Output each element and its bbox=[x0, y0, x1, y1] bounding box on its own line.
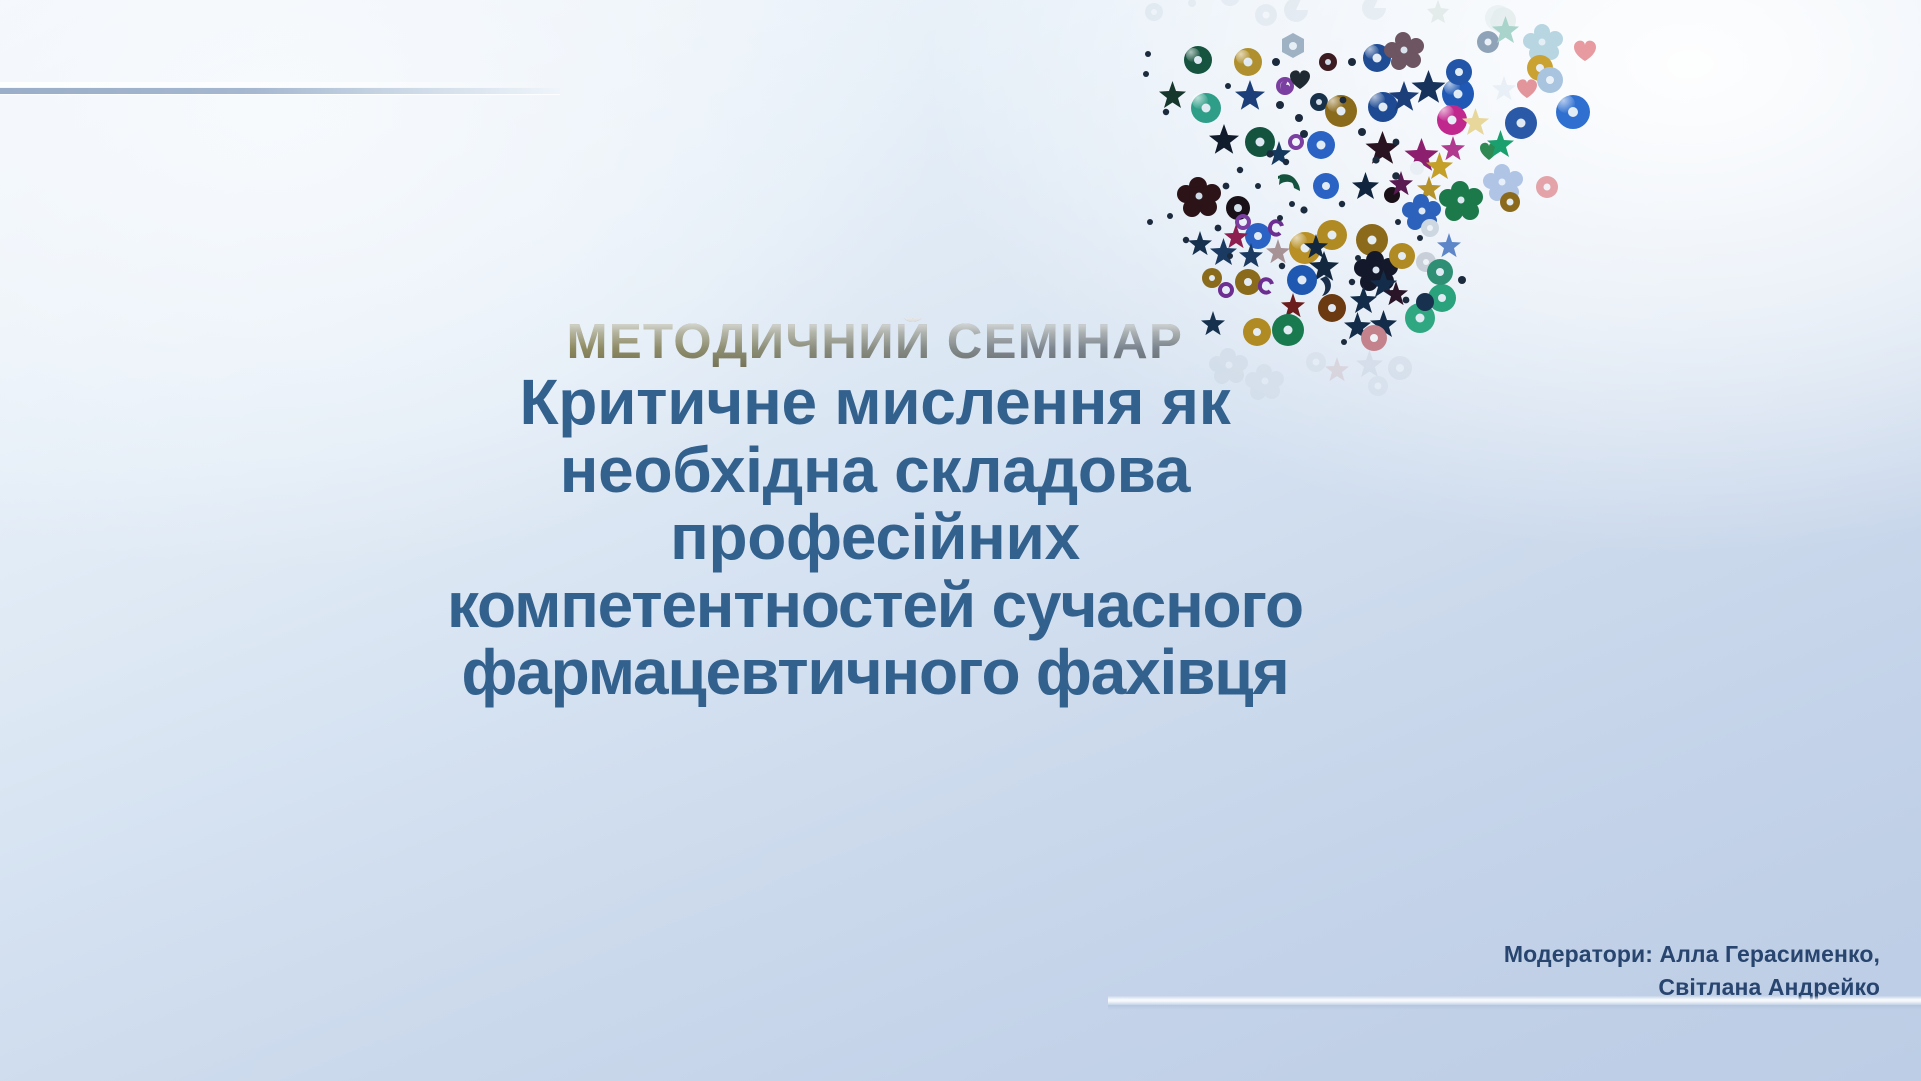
top-divider-rule bbox=[0, 88, 560, 94]
top-divider-highlight bbox=[0, 82, 560, 87]
eyebrow-wrapper: МЕТОДИЧНИЙ СЕМІНАР МЕТОДИЧНИЙ СЕМІНАР bbox=[250, 318, 1500, 367]
slide-eyebrow: МЕТОДИЧНИЙ СЕМІНАР bbox=[250, 318, 1500, 367]
page-title-line-4: компетентностей сучасного bbox=[250, 572, 1500, 640]
page-title-line-2: необхідна складова bbox=[250, 437, 1500, 505]
bottom-divider-shadow bbox=[1108, 1005, 1921, 1010]
page-title-line-3: професійних bbox=[250, 504, 1500, 572]
title-slide: МЕТОДИЧНИЙ СЕМІНАР МЕТОДИЧНИЙ СЕМІНАР Кр… bbox=[0, 0, 1921, 1081]
moderators-credit: Модератори: Алла Герасименко, Світлана А… bbox=[1000, 938, 1920, 1003]
page-title: Критичне мислення як необхідна складова … bbox=[250, 369, 1500, 707]
title-text-block: МЕТОДИЧНИЙ СЕМІНАР МЕТОДИЧНИЙ СЕМІНАР Кр… bbox=[250, 318, 1500, 707]
page-title-line-5: фармацевтичного фахівця bbox=[250, 639, 1500, 707]
moderators-line-1: Модератори: Алла Герасименко, bbox=[1000, 938, 1880, 971]
page-title-line-1: Критичне мислення як bbox=[250, 369, 1500, 437]
bottom-divider-rule bbox=[1108, 996, 1921, 1005]
